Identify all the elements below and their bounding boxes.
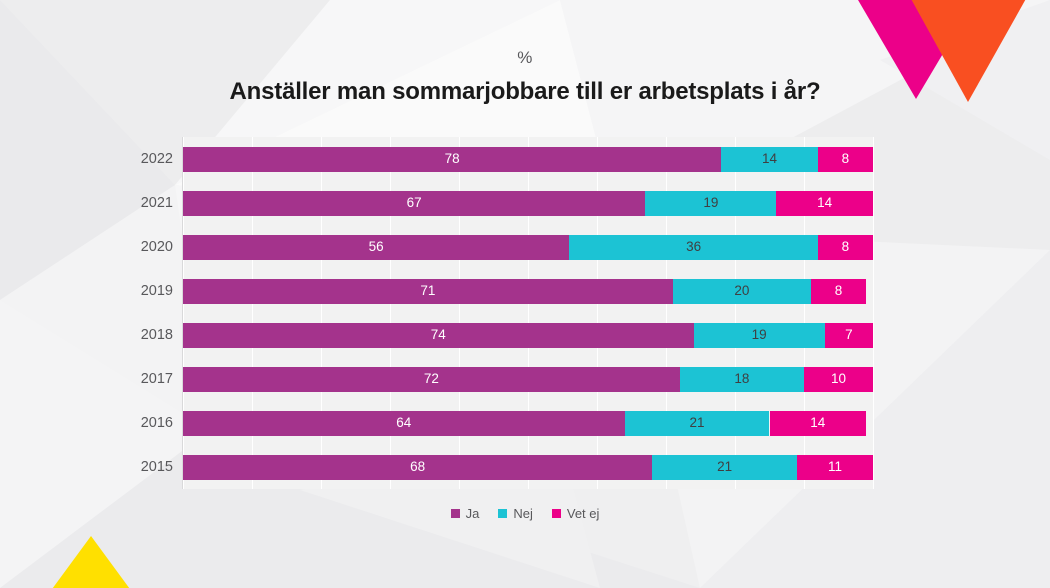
bar-row: 78148 xyxy=(183,147,873,172)
bar-segment-ja[interactable]: 56 xyxy=(183,235,569,260)
legend-item[interactable]: Vet ej xyxy=(552,506,600,521)
bar-row: 74197 xyxy=(183,323,873,348)
gridline xyxy=(873,137,874,489)
bar-segment-ja[interactable]: 67 xyxy=(183,191,645,216)
bar-segment-vet-ej[interactable]: 11 xyxy=(797,455,873,480)
bar-segment-vet-ej[interactable]: 8 xyxy=(818,235,873,260)
bar-segment-nej[interactable]: 20 xyxy=(673,279,811,304)
bar-segment-ja[interactable]: 78 xyxy=(183,147,721,172)
y-axis-labels: 20222021202020192018201720162015 xyxy=(113,137,173,489)
bar-segment-nej[interactable]: 19 xyxy=(694,323,825,348)
bar-row: 682111 xyxy=(183,455,873,480)
bar-segment-vet-ej[interactable]: 10 xyxy=(804,367,873,392)
bar-segment-ja[interactable]: 74 xyxy=(183,323,694,348)
chart-legend: JaNejVet ej xyxy=(0,506,1050,521)
bar-row: 71208 xyxy=(183,279,873,304)
bar-segment-vet-ej[interactable]: 8 xyxy=(811,279,866,304)
legend-label: Ja xyxy=(466,506,480,521)
bar-segment-ja[interactable]: 64 xyxy=(183,411,625,436)
bar-segment-vet-ej[interactable]: 14 xyxy=(776,191,873,216)
bar-segment-nej[interactable]: 21 xyxy=(652,455,797,480)
bar-segment-vet-ej[interactable]: 14 xyxy=(770,411,867,436)
legend-label: Nej xyxy=(513,506,533,521)
bar-segment-vet-ej[interactable]: 7 xyxy=(825,323,873,348)
y-axis-tick-label: 2015 xyxy=(113,455,173,480)
bar-segment-vet-ej[interactable]: 8 xyxy=(818,147,873,172)
y-axis-tick-label: 2016 xyxy=(113,411,173,436)
slide-content: % Anställer man sommarjobbare till er ar… xyxy=(0,0,1050,588)
y-axis-tick-label: 2020 xyxy=(113,235,173,260)
bar-segment-nej[interactable]: 18 xyxy=(680,367,804,392)
bar-segment-ja[interactable]: 68 xyxy=(183,455,652,480)
y-axis-tick-label: 2022 xyxy=(113,147,173,172)
y-axis-tick-label: 2021 xyxy=(113,191,173,216)
bar-segment-ja[interactable]: 71 xyxy=(183,279,673,304)
legend-item[interactable]: Nej xyxy=(498,506,533,521)
y-axis-tick-label: 2018 xyxy=(113,323,173,348)
bar-segment-nej[interactable]: 19 xyxy=(645,191,776,216)
bar-segment-ja[interactable]: 72 xyxy=(183,367,680,392)
y-axis-tick-label: 2017 xyxy=(113,367,173,392)
plot-area: 7814867191456368712087419772181064211468… xyxy=(183,137,873,489)
bar-row: 721810 xyxy=(183,367,873,392)
bar-row: 671914 xyxy=(183,191,873,216)
bar-row: 642114 xyxy=(183,411,873,436)
y-axis-tick-label: 2019 xyxy=(113,279,173,304)
legend-swatch-icon xyxy=(498,509,507,518)
bar-row: 56368 xyxy=(183,235,873,260)
legend-swatch-icon xyxy=(451,509,460,518)
page-title: Anställer man sommarjobbare till er arbe… xyxy=(0,78,1050,106)
legend-label: Vet ej xyxy=(567,506,600,521)
legend-swatch-icon xyxy=(552,509,561,518)
unit-label: % xyxy=(0,48,1050,68)
bar-segment-nej[interactable]: 36 xyxy=(569,235,817,260)
bar-segment-nej[interactable]: 21 xyxy=(625,411,770,436)
bar-segment-nej[interactable]: 14 xyxy=(721,147,818,172)
legend-item[interactable]: Ja xyxy=(451,506,480,521)
